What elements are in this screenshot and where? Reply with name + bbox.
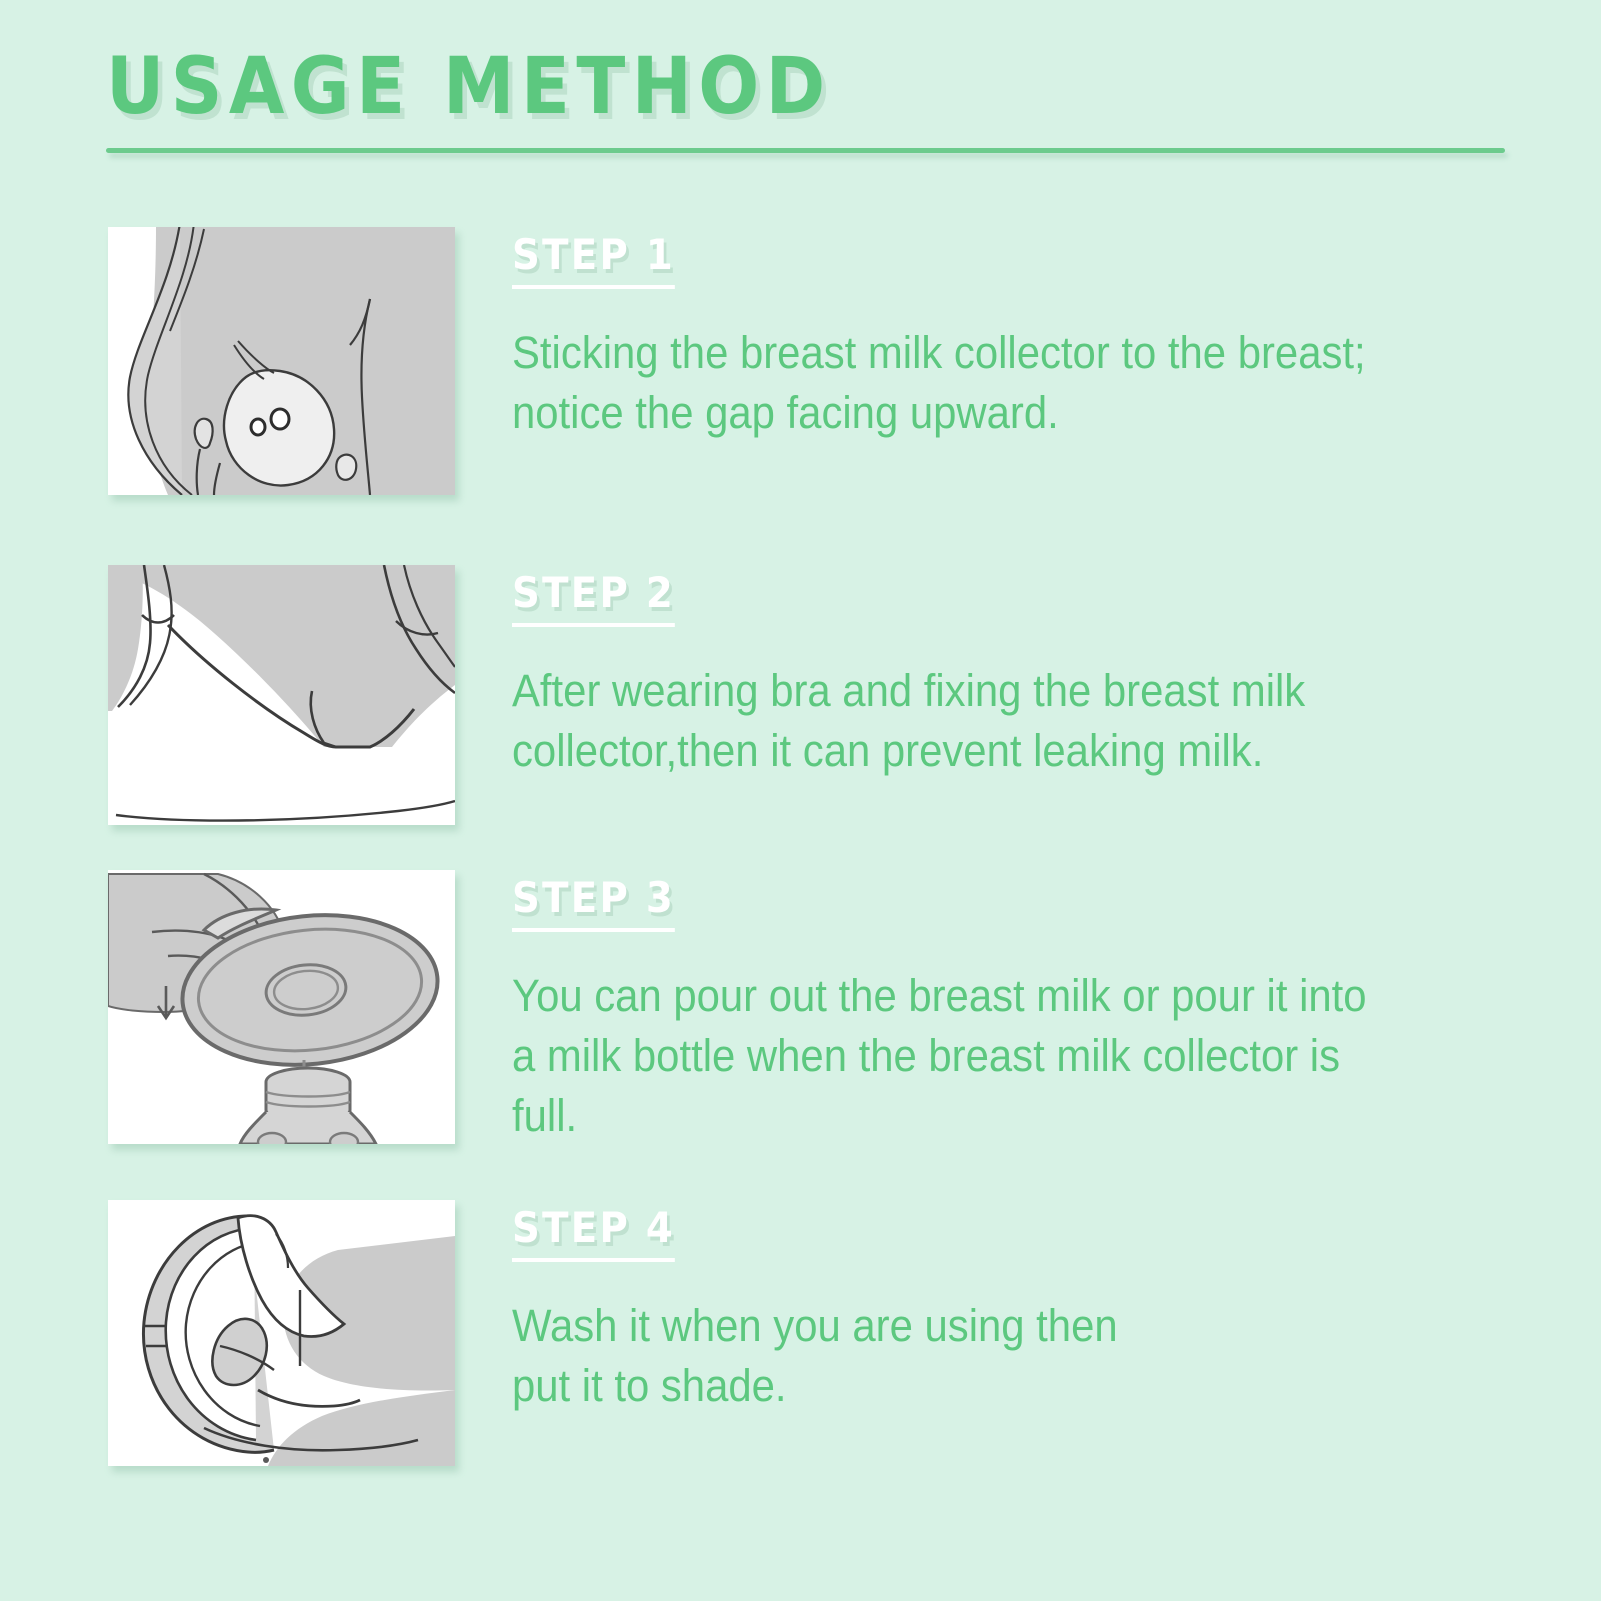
step-2-illustration: [108, 565, 455, 825]
step-4-illustration: [108, 1200, 455, 1466]
step-1-label: STEP 1: [512, 231, 675, 289]
step-1-illustration: [108, 227, 455, 495]
step-2-description: After wearing bra and fixing the breast …: [512, 661, 1405, 781]
page-title: USAGE METHOD: [106, 44, 1394, 130]
step-2-label: STEP 2: [512, 569, 675, 627]
step-3-illustration: [108, 870, 455, 1144]
step-item: STEP 1 Sticking the breast milk collecto…: [0, 227, 1601, 565]
usage-method-infographic: USAGE METHOD: [0, 0, 1601, 1601]
step-item: STEP 3 You can pour out the breast milk …: [0, 870, 1601, 1200]
torso-wearing-bra-icon: [108, 565, 455, 825]
step-item: STEP 2 After wearing bra and fixing the …: [0, 565, 1601, 870]
step-1-description: Sticking the breast milk collector to th…: [512, 323, 1442, 443]
step-item: STEP 4 Wash it when you are using then p…: [0, 1200, 1601, 1500]
step-2-text: STEP 2 After wearing bra and fixing the …: [512, 565, 1601, 781]
pouring-collector-into-bottle-icon: [108, 870, 455, 1144]
step-4-description: Wash it when you are using then put it t…: [512, 1296, 1182, 1416]
steps-list: STEP 1 Sticking the breast milk collecto…: [0, 227, 1601, 1500]
step-4-label: STEP 4: [512, 1204, 675, 1262]
title-divider: [106, 148, 1505, 153]
step-3-label: STEP 3: [512, 874, 675, 932]
breast-with-collector-icon: [108, 227, 455, 495]
step-3-description: You can pour out the breast milk or pour…: [512, 966, 1368, 1146]
step-1-text: STEP 1 Sticking the breast milk collecto…: [512, 227, 1601, 443]
washing-collector-by-hand-icon: [108, 1200, 455, 1466]
step-3-text: STEP 3 You can pour out the breast milk …: [512, 870, 1601, 1146]
step-4-text: STEP 4 Wash it when you are using then p…: [512, 1200, 1601, 1416]
header: USAGE METHOD: [106, 44, 1506, 153]
